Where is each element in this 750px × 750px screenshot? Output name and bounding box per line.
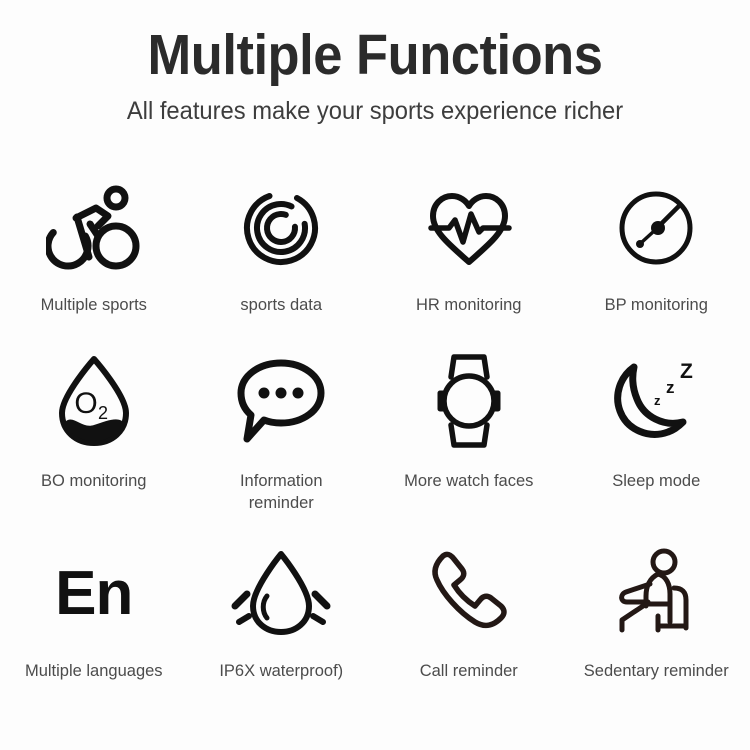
feature-label: Multiple languages — [25, 660, 163, 682]
sleep-z-medium: z — [666, 378, 675, 397]
page-subtitle: All features make your sports experience… — [19, 94, 732, 128]
language-en-icon: En — [55, 542, 132, 646]
moon-sleep-icon: z z Z — [606, 346, 706, 456]
feature-item-more-watch-faces[interactable]: More watch faces — [375, 346, 563, 542]
droplet-o2-subscript: 2 — [98, 403, 108, 423]
features-grid: Multiple sports sports data — [0, 176, 750, 722]
feature-item-hr-monitoring[interactable]: HR monitoring — [375, 176, 563, 346]
blood-oxygen-droplet-icon: O 2 — [46, 346, 142, 456]
activity-rings-icon — [233, 176, 329, 280]
feature-label: Call reminder — [420, 660, 518, 682]
gauge-icon — [608, 176, 704, 280]
feature-label: More watch faces — [404, 470, 533, 492]
feature-label: Multiple sports — [41, 294, 147, 316]
feature-item-information-reminder[interactable]: Information reminder — [188, 346, 376, 542]
water-splash-droplet-icon — [229, 542, 333, 646]
feature-label: Information reminder — [240, 470, 323, 514]
feature-label: HR monitoring — [416, 294, 521, 316]
droplet-o2-text: O — [74, 387, 97, 420]
sitting-person-icon — [606, 542, 706, 646]
feature-item-multiple-sports[interactable]: Multiple sports — [0, 176, 188, 346]
feature-item-sleep-mode[interactable]: z z Z Sleep mode — [563, 346, 750, 542]
feature-item-bo-monitoring[interactable]: O 2 BO monitoring — [0, 346, 188, 542]
cyclist-icon — [46, 176, 142, 280]
feature-item-sports-data[interactable]: sports data — [188, 176, 376, 346]
feature-item-multiple-languages[interactable]: En Multiple languages — [0, 542, 188, 722]
feature-label: IP6X waterproof) — [219, 660, 343, 682]
feature-label: sports data — [240, 294, 322, 316]
features-row-1: Multiple sports sports data — [0, 176, 750, 346]
sleep-z-large: Z — [680, 360, 693, 383]
sleep-z-small: z — [654, 393, 661, 408]
smartwatch-icon — [421, 346, 517, 456]
feature-label: Sleep mode — [612, 470, 700, 492]
heart-pulse-icon — [421, 176, 517, 280]
feature-item-call-reminder[interactable]: Call reminder — [375, 542, 563, 722]
feature-grid-page: Multiple Functions All features make you… — [0, 0, 750, 750]
features-row-3: En Multiple languages IP6X waterproof) — [0, 542, 750, 722]
phone-handset-icon — [421, 542, 517, 646]
language-en-text: En — [55, 563, 132, 625]
speech-bubble-icon — [231, 346, 331, 456]
feature-label: Sedentary reminder — [584, 660, 729, 682]
header: Multiple Functions All features make you… — [0, 0, 750, 128]
feature-label: BP monitoring — [605, 294, 708, 316]
feature-item-waterproof[interactable]: IP6X waterproof) — [188, 542, 376, 722]
feature-item-sedentary-reminder[interactable]: Sedentary reminder — [563, 542, 750, 722]
page-title: Multiple Functions — [30, 22, 720, 88]
feature-item-bp-monitoring[interactable]: BP monitoring — [563, 176, 750, 346]
feature-label: BO monitoring — [41, 470, 146, 492]
features-row-2: O 2 BO monitoring Information re — [0, 346, 750, 542]
